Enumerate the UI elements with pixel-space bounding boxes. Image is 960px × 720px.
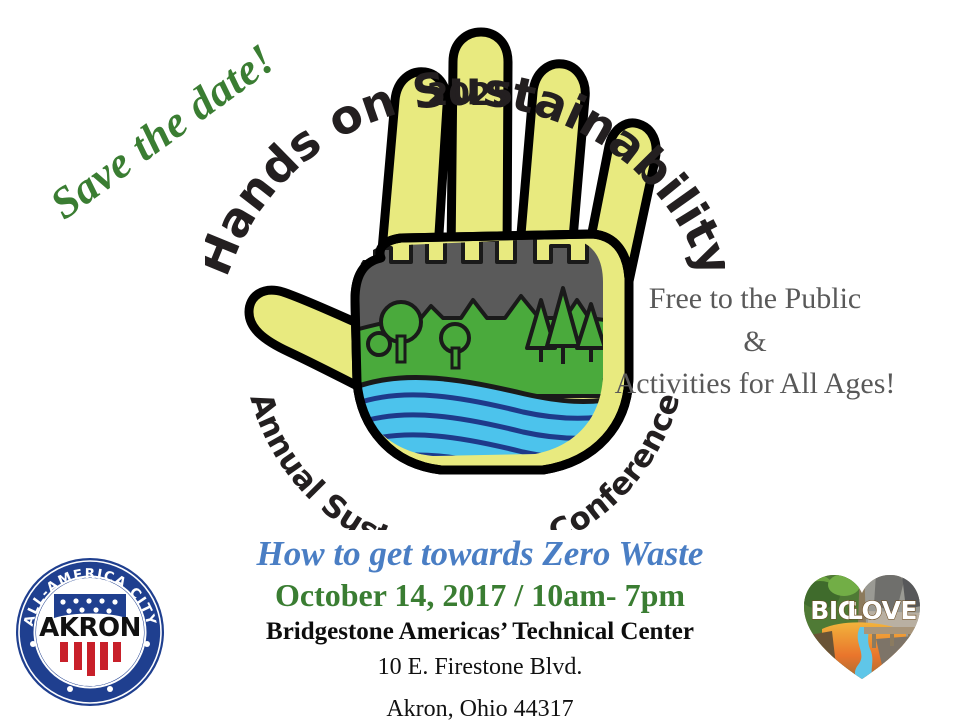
- event-venue: Bridgestone Americas’ Technical Center: [150, 616, 810, 649]
- akron-all-america-city-logo: ALL-AMERICA CITY 1981 1995 2008: [14, 556, 166, 708]
- event-headline: How to get towards Zero Waste: [150, 534, 810, 573]
- audience-note-line-3: Activities for All Ages!: [560, 363, 950, 406]
- big-love-word-love: LOVE: [847, 596, 917, 625]
- event-city-state-zip: Akron, Ohio 44317: [150, 693, 810, 720]
- flyer-canvas: Save the date!: [0, 0, 960, 720]
- logo-year: 2025: [427, 77, 513, 113]
- event-details: How to get towards Zero Waste October 14…: [150, 534, 810, 720]
- conference-logo: Hands on Sustainability 2025 Annual Sust…: [205, 0, 725, 530]
- seal-akron-wordmark: AKRON: [39, 613, 141, 643]
- audience-note-ampersand: &: [560, 321, 950, 364]
- event-date-time: October 14, 2017 / 10am- 7pm: [150, 575, 810, 615]
- audience-note-line-1: Free to the Public: [560, 278, 950, 321]
- audience-note: Free to the Public & Activities for All …: [560, 278, 950, 406]
- big-love-logo: BIG LOVE: [798, 565, 926, 683]
- event-street-address: 10 E. Firestone Blvd.: [150, 651, 810, 683]
